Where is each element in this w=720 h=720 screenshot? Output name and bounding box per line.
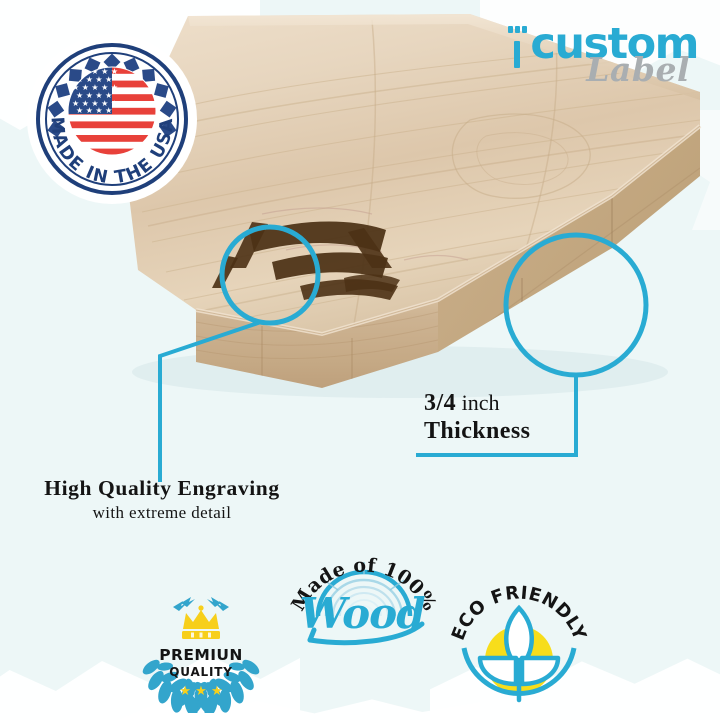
infographic-canvas: ★ ★ ★ ★ ★ ★ ★ ★ ★ ★ ★ ★ ★ ★ ★ ★ ★ ★ ★ ★ … [0, 0, 720, 720]
svg-text:★ ★ ★: ★ ★ ★ [179, 684, 222, 699]
brand-logo: custom Label [507, 24, 698, 86]
brand-i-letter-icon [507, 24, 529, 70]
thickness-value: 3/4 [424, 390, 456, 416]
premium-badge-line2: QUALITY [169, 665, 232, 679]
made-of-wood-badge: Made of 100% Wood [288, 524, 440, 654]
eco-friendly-badge: ECO FRIENDLY [444, 572, 594, 712]
thickness-label: Thickness [424, 418, 604, 446]
engraving-callout-title: High Quality Engraving [12, 476, 312, 501]
premium-quality-badge: PREMIUN QUALITY ★ ★ ★ [133, 577, 269, 713]
premium-badge-line1: PREMIUN [159, 646, 242, 664]
svg-text:★ ★ ★ ★: ★ ★ ★ ★ [76, 106, 112, 115]
eco-friendly-seal-icon: ECO FRIENDLY [444, 572, 594, 712]
thickness-callout-text: 3/4 inch Thickness [424, 390, 604, 445]
thickness-unit: inch [462, 390, 500, 415]
engraving-callout-subtitle: with extreme detail [12, 503, 312, 523]
premium-quality-seal-icon: PREMIUN QUALITY ★ ★ ★ [133, 577, 269, 713]
premium-badge-stars: ★ ★ ★ [179, 684, 222, 699]
engraving-callout-text: High Quality Engraving with extreme deta… [12, 476, 312, 523]
made-of-wood-seal-icon: Made of 100% Wood [288, 524, 440, 654]
made-in-usa-seal-icon: ★ ★ ★ ★ ★ ★ ★ ★ ★ ★ ★ ★ ★ ★ ★ ★ ★ ★ ★ ★ … [26, 33, 198, 205]
made-in-usa-badge: ★ ★ ★ ★ ★ ★ ★ ★ ★ ★ ★ ★ ★ ★ ★ ★ ★ ★ ★ ★ … [26, 33, 198, 205]
